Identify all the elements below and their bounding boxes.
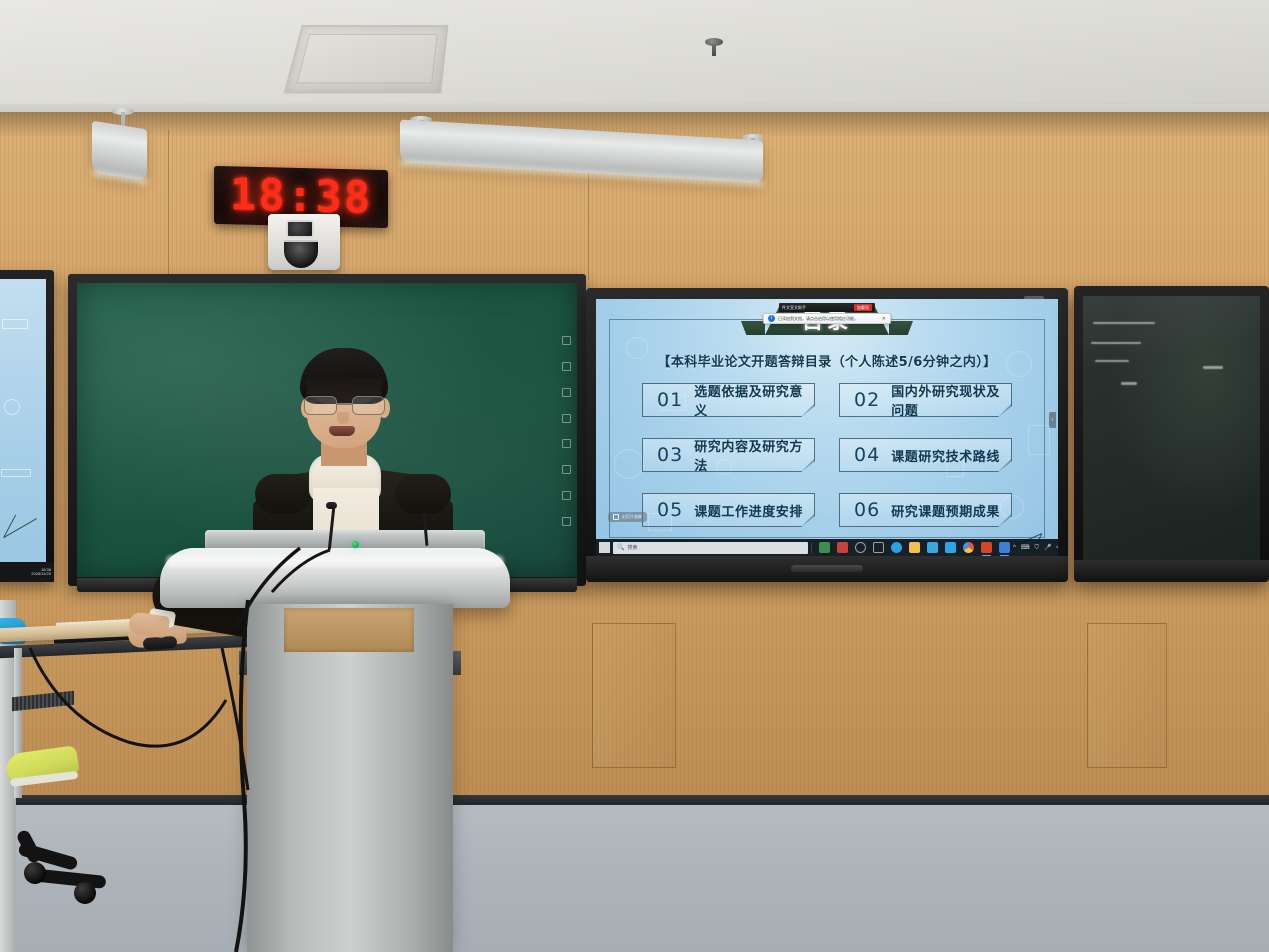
cortana-icon[interactable] xyxy=(855,542,866,553)
agenda-item-04[interactable]: 04 课题研究技术路线 xyxy=(839,438,1012,472)
agenda-label: 选题依据及研究意义 xyxy=(694,381,814,419)
gift-icon[interactable] xyxy=(837,542,848,553)
info-icon: i xyxy=(768,315,775,322)
board-btn-icon[interactable] xyxy=(562,517,571,526)
agenda-item-03[interactable]: 03 研究内容及研究方法 xyxy=(642,438,815,472)
agenda-label: 课题工作进度安排 xyxy=(694,501,803,520)
powerpoint-icon[interactable] xyxy=(981,542,992,553)
classroom-scene: 18:38 18:38 2026/11/25 xyxy=(0,0,1269,952)
addin-enable-button[interactable]: 加载项 xyxy=(854,304,872,311)
slide-subtitle: 【本科毕业论文开题答辩目录（个人陈述5/6分钟之内）】 xyxy=(596,351,1058,370)
agenda-item-05[interactable]: 05 课题工作进度安排 xyxy=(642,493,815,527)
board-btn-icon[interactable] xyxy=(562,491,571,500)
podium-wood-panel xyxy=(284,608,414,652)
agenda-label: 课题研究技术路线 xyxy=(891,446,1000,465)
board-btn-icon[interactable] xyxy=(562,414,571,423)
right-display-off[interactable] xyxy=(1074,286,1269,582)
agenda-number: 03 xyxy=(657,444,683,466)
shoulder-right xyxy=(395,474,451,514)
link-icon[interactable]: ⚯ xyxy=(1057,545,1059,551)
agenda-number: 06 xyxy=(854,499,880,521)
edge-icon[interactable] xyxy=(891,542,902,553)
shield-icon[interactable]: ⛉ xyxy=(1035,545,1040,551)
tree-icon[interactable] xyxy=(819,542,830,553)
agenda-number: 04 xyxy=(854,444,880,466)
board-btn-icon[interactable] xyxy=(562,439,571,448)
left-display-surface xyxy=(0,279,46,562)
presentation-slide[interactable]: 目录 件文宣文助手 加载项 i 已添加到文档，请点击启用以使用相应功能。 ✕ 【… xyxy=(596,299,1058,556)
mouth xyxy=(329,426,355,436)
file-explorer-icon[interactable] xyxy=(909,542,920,553)
taskbar-search-input[interactable]: 🔍 搜索 xyxy=(613,542,808,554)
agenda-item-06[interactable]: 06 研究课题预期成果 xyxy=(839,493,1012,527)
app-icon[interactable] xyxy=(999,542,1010,553)
close-icon[interactable]: ✕ xyxy=(882,316,886,322)
agenda-number: 01 xyxy=(657,389,683,411)
microphone-head xyxy=(326,502,337,509)
page-fold xyxy=(4,512,42,538)
notification-toast[interactable]: i 已添加到文档，请点击启用以使用相应功能。 ✕ xyxy=(763,313,891,324)
whiteboard-bezel: 目录 件文宣文助手 加载项 i 已添加到文档，请点击启用以使用相应功能。 ✕ 【… xyxy=(586,288,1068,582)
toast-message: 已添加到文档，请点击启用以使用相应功能。 xyxy=(778,316,858,322)
left-display-chin: 18:38 2026/11/25 xyxy=(0,562,54,582)
ceiling xyxy=(0,0,1269,118)
taskbar-tray: ^ ⌨ ⛉ 🎤 ⚯ 18:38 2026/11/25 ▤ xyxy=(1013,542,1058,552)
collapse-panel-button[interactable]: ‹ xyxy=(1049,412,1056,428)
search-placeholder: 搜索 xyxy=(627,544,637,551)
office-chair-base xyxy=(0,856,110,874)
floor xyxy=(0,805,1269,952)
mouse[interactable] xyxy=(143,636,178,650)
agenda-grid: 01 选题依据及研究意义 02 国内外研究现状及问题 03 研究内容及研究方法 xyxy=(642,383,1012,527)
left-display[interactable]: 18:38 2026/11/25 xyxy=(0,270,54,582)
microphone-led-icon xyxy=(352,541,359,548)
start-button-icon[interactable] xyxy=(599,542,610,553)
right-display-surface xyxy=(1083,296,1260,560)
chevron-up-icon[interactable]: ^ xyxy=(1013,545,1016,551)
mail-icon[interactable] xyxy=(945,542,956,553)
agenda-item-02[interactable]: 02 国内外研究现状及问题 xyxy=(839,383,1012,417)
addin-name: 件文宣文助手 xyxy=(782,305,806,311)
slideshow-label: 幻灯片放映 xyxy=(622,514,642,520)
nose xyxy=(337,412,349,424)
slideshow-icon xyxy=(613,514,619,520)
whiteboard-chin xyxy=(586,556,1068,582)
suspended-light-fixture xyxy=(92,121,147,182)
task-view-icon[interactable] xyxy=(873,542,884,553)
agenda-label: 研究课题预期成果 xyxy=(891,501,1000,520)
right-display-chin xyxy=(1074,560,1269,582)
board-btn-icon[interactable] xyxy=(562,388,571,397)
lectern-body xyxy=(247,604,453,952)
agenda-item-01[interactable]: 01 选题依据及研究意义 xyxy=(642,383,815,417)
wall-access-panel xyxy=(592,623,676,768)
lectern-top xyxy=(160,548,510,608)
fire-sprinkler-icon xyxy=(705,38,723,58)
ceiling-air-vent-icon xyxy=(283,25,448,94)
addin-toolbar[interactable]: 件文宣文助手 加载项 xyxy=(779,303,875,312)
whiteboard-screen[interactable]: 目录 件文宣文助手 加载项 i 已添加到文档，请点击启用以使用相应功能。 ✕ 【… xyxy=(596,299,1058,556)
keyboard-icon[interactable]: ⌨ xyxy=(1021,545,1030,551)
search-icon: 🔍 xyxy=(617,544,624,551)
chrome-icon[interactable] xyxy=(963,542,974,553)
board-control-strip[interactable] xyxy=(560,336,572,526)
wall-access-panel xyxy=(1087,623,1167,768)
left-display-date: 2026/11/25 xyxy=(31,571,51,576)
agenda-label: 国内外研究现状及问题 xyxy=(891,381,1011,419)
agenda-label: 研究内容及研究方法 xyxy=(694,436,814,474)
shoulder-left xyxy=(255,474,311,514)
ceiling-camera-icon xyxy=(268,214,340,270)
taskbar-app-icons xyxy=(815,542,1010,553)
store-icon[interactable] xyxy=(927,542,938,553)
board-btn-icon[interactable] xyxy=(562,336,571,345)
agenda-number: 05 xyxy=(657,499,683,521)
interactive-whiteboard[interactable]: 目录 件文宣文助手 加载项 i 已添加到文档，请点击启用以使用相应功能。 ✕ 【… xyxy=(586,288,1068,582)
taskbar-divider xyxy=(811,542,812,554)
board-btn-icon[interactable] xyxy=(562,362,571,371)
agenda-number: 02 xyxy=(854,389,880,411)
board-btn-icon[interactable] xyxy=(562,465,571,474)
page-fold-decoration xyxy=(988,496,1042,534)
windows-taskbar[interactable]: 🔍 搜索 xyxy=(596,539,1058,556)
slideshow-pill[interactable]: 幻灯片放映 xyxy=(608,512,647,522)
microphone-icon[interactable]: 🎤 xyxy=(1044,545,1051,551)
